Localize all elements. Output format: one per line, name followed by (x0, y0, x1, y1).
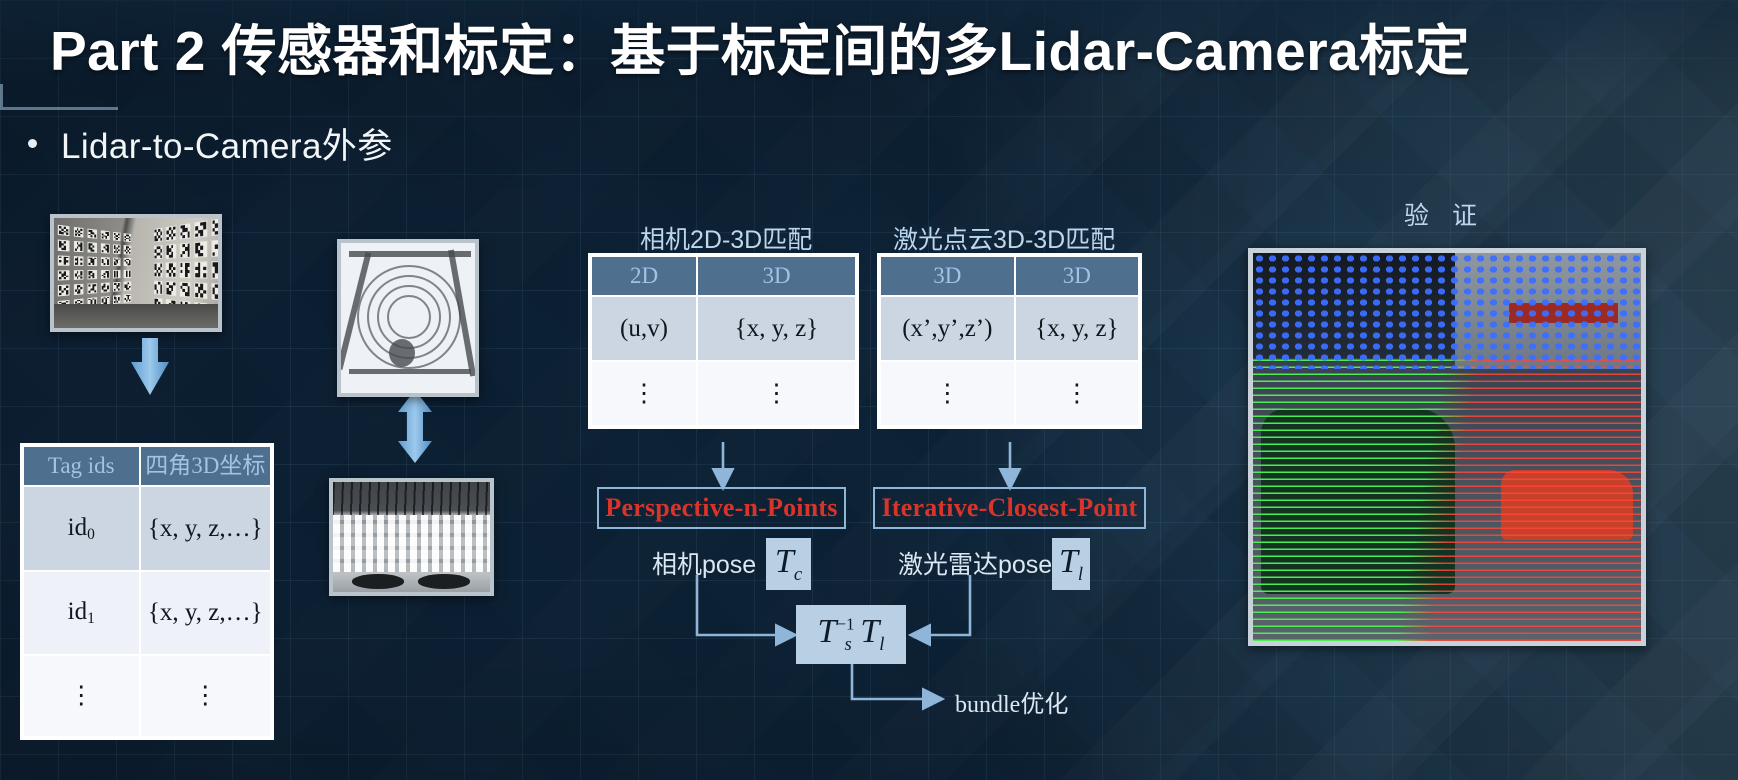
camera-3d-cell: {x, y, z} (697, 296, 856, 361)
lidar-bev-content (341, 243, 475, 393)
room-point-cloud-content (333, 482, 490, 592)
tag-table-header-coords: 四角3D坐标 (140, 446, 271, 486)
camera-match-table: 2D 3D (u,v) {x, y, z} ⋮ ⋮ (588, 253, 859, 429)
lidar-table-header-3d-source: 3D (880, 256, 1015, 296)
tag-ellipsis-cell: ⋮ (140, 655, 271, 737)
bullet-label: Lidar-to-Camera外参 (61, 118, 393, 169)
icp-algorithm-box: Iterative-Closest-Point (873, 487, 1146, 529)
table-row: (u,v) {x, y, z} (591, 296, 856, 361)
camera-pose-matrix: Tc (766, 538, 811, 590)
tag-wall-left (58, 225, 131, 312)
tag-ids-table: Tag ids 四角3D坐标 id0 {x, y, z,…} id1 {x, y… (20, 443, 274, 740)
verification-content (1253, 253, 1641, 641)
calibration-room-photo-content (54, 218, 218, 328)
table-row: ⋮ ⋮ (591, 361, 856, 426)
camera-table-header-2d: 2D (591, 256, 697, 296)
lidar-ellipsis-cell: ⋮ (880, 361, 1015, 426)
lidar-ellipsis-cell: ⋮ (1015, 361, 1139, 426)
camera-match-caption: 相机2D-3D匹配 (640, 220, 812, 256)
calibration-room-image (50, 214, 222, 332)
slide-canvas: Part 2 传感器和标定：基于标定间的多Lidar-Camera标定 Lida… (0, 0, 1738, 780)
extrinsic-result-matrix: T−1s Tl (796, 605, 906, 664)
page-title: Part 2 传感器和标定：基于标定间的多Lidar-Camera标定 (50, 6, 1730, 86)
verification-image (1248, 248, 1646, 646)
lidar-pose-matrix: Tl (1052, 538, 1090, 590)
camera-ellipsis-cell: ⋮ (697, 361, 856, 426)
lidar-3d-source-cell: (x’,y’,z’) (880, 296, 1015, 361)
camera-pose-label: 相机pose (652, 545, 756, 581)
tag-coord-cell: {x, y, z,…} (140, 486, 271, 570)
lidar-match-table: 3D 3D (x’,y’,z’) {x, y, z} ⋮ ⋮ (877, 253, 1142, 429)
camera-ellipsis-cell: ⋮ (591, 361, 697, 426)
tag-id-cell: id1 (23, 571, 140, 655)
title-corner-decoration (0, 84, 118, 110)
table-row: id0 {x, y, z,…} (23, 486, 271, 570)
lidar-table-header-3d-target: 3D (1015, 256, 1139, 296)
table-row: ⋮ ⋮ (23, 655, 271, 737)
camera-2d-cell: (u,v) (591, 296, 697, 361)
pnp-algorithm-box: Perspective-n-Points (597, 487, 846, 529)
room-point-cloud-image (329, 478, 494, 596)
lidar-bev-image (337, 239, 479, 397)
bullet-dot-icon (28, 139, 37, 148)
tag-coord-cell: {x, y, z,…} (140, 571, 271, 655)
lidar-pose-label: 激光雷达pose (898, 545, 1052, 581)
tag-ellipsis-cell: ⋮ (23, 655, 140, 737)
lidar-3d-target-cell: {x, y, z} (1015, 296, 1139, 361)
bullet-row: Lidar-to-Camera外参 (14, 118, 393, 169)
table-row: id1 {x, y, z,…} (23, 571, 271, 655)
camera-table-header-3d: 3D (697, 256, 856, 296)
table-row: (x’,y’,z’) {x, y, z} (880, 296, 1139, 361)
bundle-optimization-label: bundle优化 (955, 684, 1068, 719)
lidar-match-caption: 激光点云3D-3D匹配 (893, 220, 1115, 256)
table-row: ⋮ ⋮ (880, 361, 1139, 426)
tag-id-cell: id0 (23, 486, 140, 570)
tag-table-header-ids: Tag ids (23, 446, 140, 486)
room-floor (54, 304, 218, 328)
verification-caption: 验 证 (1404, 196, 1485, 232)
